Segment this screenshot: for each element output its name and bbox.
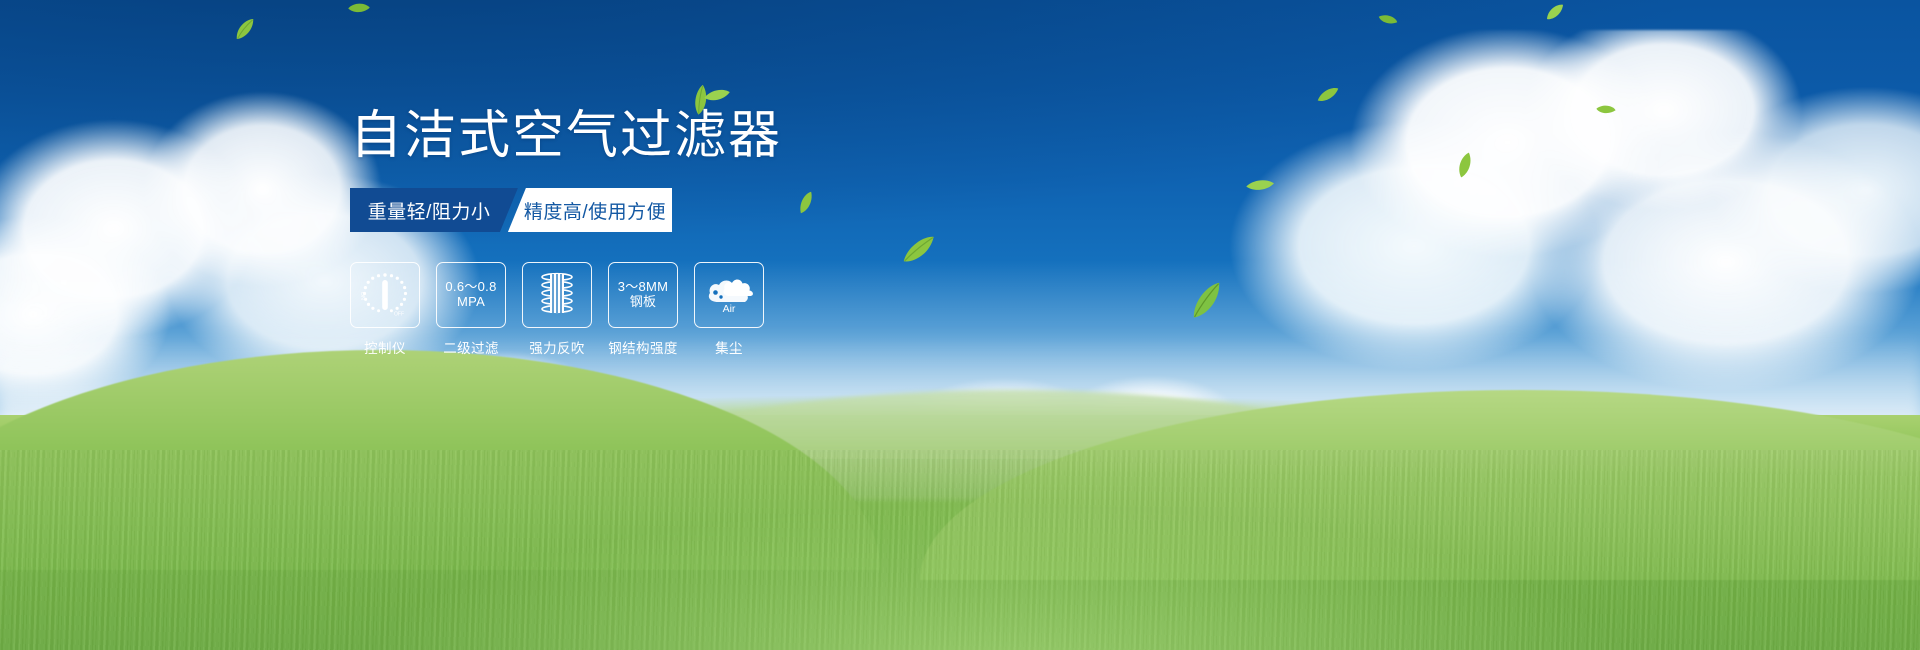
steel-line-1: 3～8MM [618,280,669,295]
badge-weight-resistance: 重量轻/阻力小 [350,188,518,232]
feature-box-dust: Air [694,262,764,328]
feature-label-blowback: 强力反吹 [529,337,585,357]
feature-item-filter: 0.6～0.8 MPA 二级过滤 [436,262,506,357]
banner-content: 自洁式空气过滤器 重量轻/阻力小 精度高/使用方便 [350,110,910,357]
feature-label-dust: 集尘 [715,337,743,357]
air-cloud-icon: Air [702,272,756,318]
steel-plate-icon: 3～8MM 钢板 [618,280,669,310]
steel-line-2: 钢板 [618,295,669,310]
feature-item-dust: Air 集尘 [694,262,764,357]
feature-item-blowback: 强力反吹 [522,262,592,357]
svg-text:Air: Air [723,303,736,315]
feature-item-steel: 3～8MM 钢板 钢结构强度 [608,262,678,357]
svg-text:NO: NO [361,291,367,300]
product-hero-banner: 自洁式空气过滤器 重量轻/阻力小 精度高/使用方便 [0,0,1920,650]
feature-box-control: NO OFF [350,262,420,328]
svg-text:OFF: OFF [394,311,404,317]
control-gauge-icon: NO OFF [358,268,412,323]
page-title: 自洁式空气过滤器 [350,110,910,162]
pressure-line-1: 0.6～0.8 [445,280,496,295]
feature-box-filter: 0.6～0.8 MPA [436,262,506,328]
feature-label-steel: 钢结构强度 [608,337,678,357]
badge-precision-ease: 精度高/使用方便 [508,188,672,232]
grass-glow [0,415,1920,650]
pressure-value-icon: 0.6～0.8 MPA [445,280,496,310]
feature-item-control: NO OFF 控制仪 [350,262,420,357]
feature-box-steel: 3～8MM 钢板 [608,262,678,328]
badge-group: 重量轻/阻力小 精度高/使用方便 [350,188,672,232]
pressure-line-2: MPA [445,295,496,310]
feature-label-control: 控制仪 [364,337,406,357]
feature-label-filter: 二级过滤 [443,337,499,357]
feature-icon-row: NO OFF 控制仪 0.6～0.8 MPA 二级过滤 [350,262,910,357]
feature-box-blowback [522,262,592,328]
reverse-blow-coil-icon [532,268,582,323]
